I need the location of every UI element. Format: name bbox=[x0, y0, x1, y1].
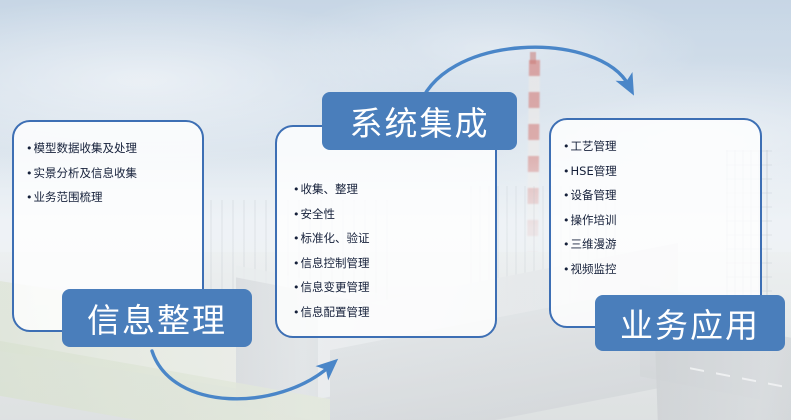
list-item: 收集、整理 bbox=[293, 183, 370, 196]
stage-title-business-application[interactable]: 业务应用 bbox=[595, 295, 785, 351]
list-item: 三维漫游 bbox=[563, 238, 617, 251]
list-item: 视频监控 bbox=[563, 263, 617, 276]
list-item: 安全性 bbox=[293, 208, 370, 221]
stage-title-information-organization[interactable]: 信息整理 bbox=[62, 289, 252, 347]
list-item: 信息配置管理 bbox=[293, 306, 370, 319]
list-item: 信息变更管理 bbox=[293, 281, 370, 294]
stage-card-system-integration[interactable]: 收集、整理 安全性 标准化、验证 信息控制管理 信息变更管理 信息配置管理 bbox=[275, 125, 497, 338]
list-item: HSE管理 bbox=[563, 165, 617, 178]
bullet-list-business-application: 工艺管理 HSE管理 设备管理 操作培训 三维漫游 视频监控 bbox=[563, 140, 617, 287]
bullet-list-information-organization: 模型数据收集及处理 实景分析及信息收集 业务范围梳理 bbox=[26, 142, 137, 216]
list-item: 模型数据收集及处理 bbox=[26, 142, 137, 155]
list-item: 操作培训 bbox=[563, 214, 617, 227]
smokestack-tip bbox=[530, 52, 536, 64]
list-item: 标准化、验证 bbox=[293, 232, 370, 245]
list-item: 实景分析及信息收集 bbox=[26, 167, 137, 180]
stage-title-system-integration[interactable]: 系统集成 bbox=[322, 92, 517, 150]
list-item: 业务范围梳理 bbox=[26, 191, 137, 204]
bullet-list-system-integration: 收集、整理 安全性 标准化、验证 信息控制管理 信息变更管理 信息配置管理 bbox=[293, 183, 370, 330]
list-item: 信息控制管理 bbox=[293, 257, 370, 270]
list-item: 工艺管理 bbox=[563, 140, 617, 153]
diagram-canvas: 模型数据收集及处理 实景分析及信息收集 业务范围梳理 收集、整理 安全性 标准化… bbox=[0, 0, 791, 420]
list-item: 设备管理 bbox=[563, 189, 617, 202]
